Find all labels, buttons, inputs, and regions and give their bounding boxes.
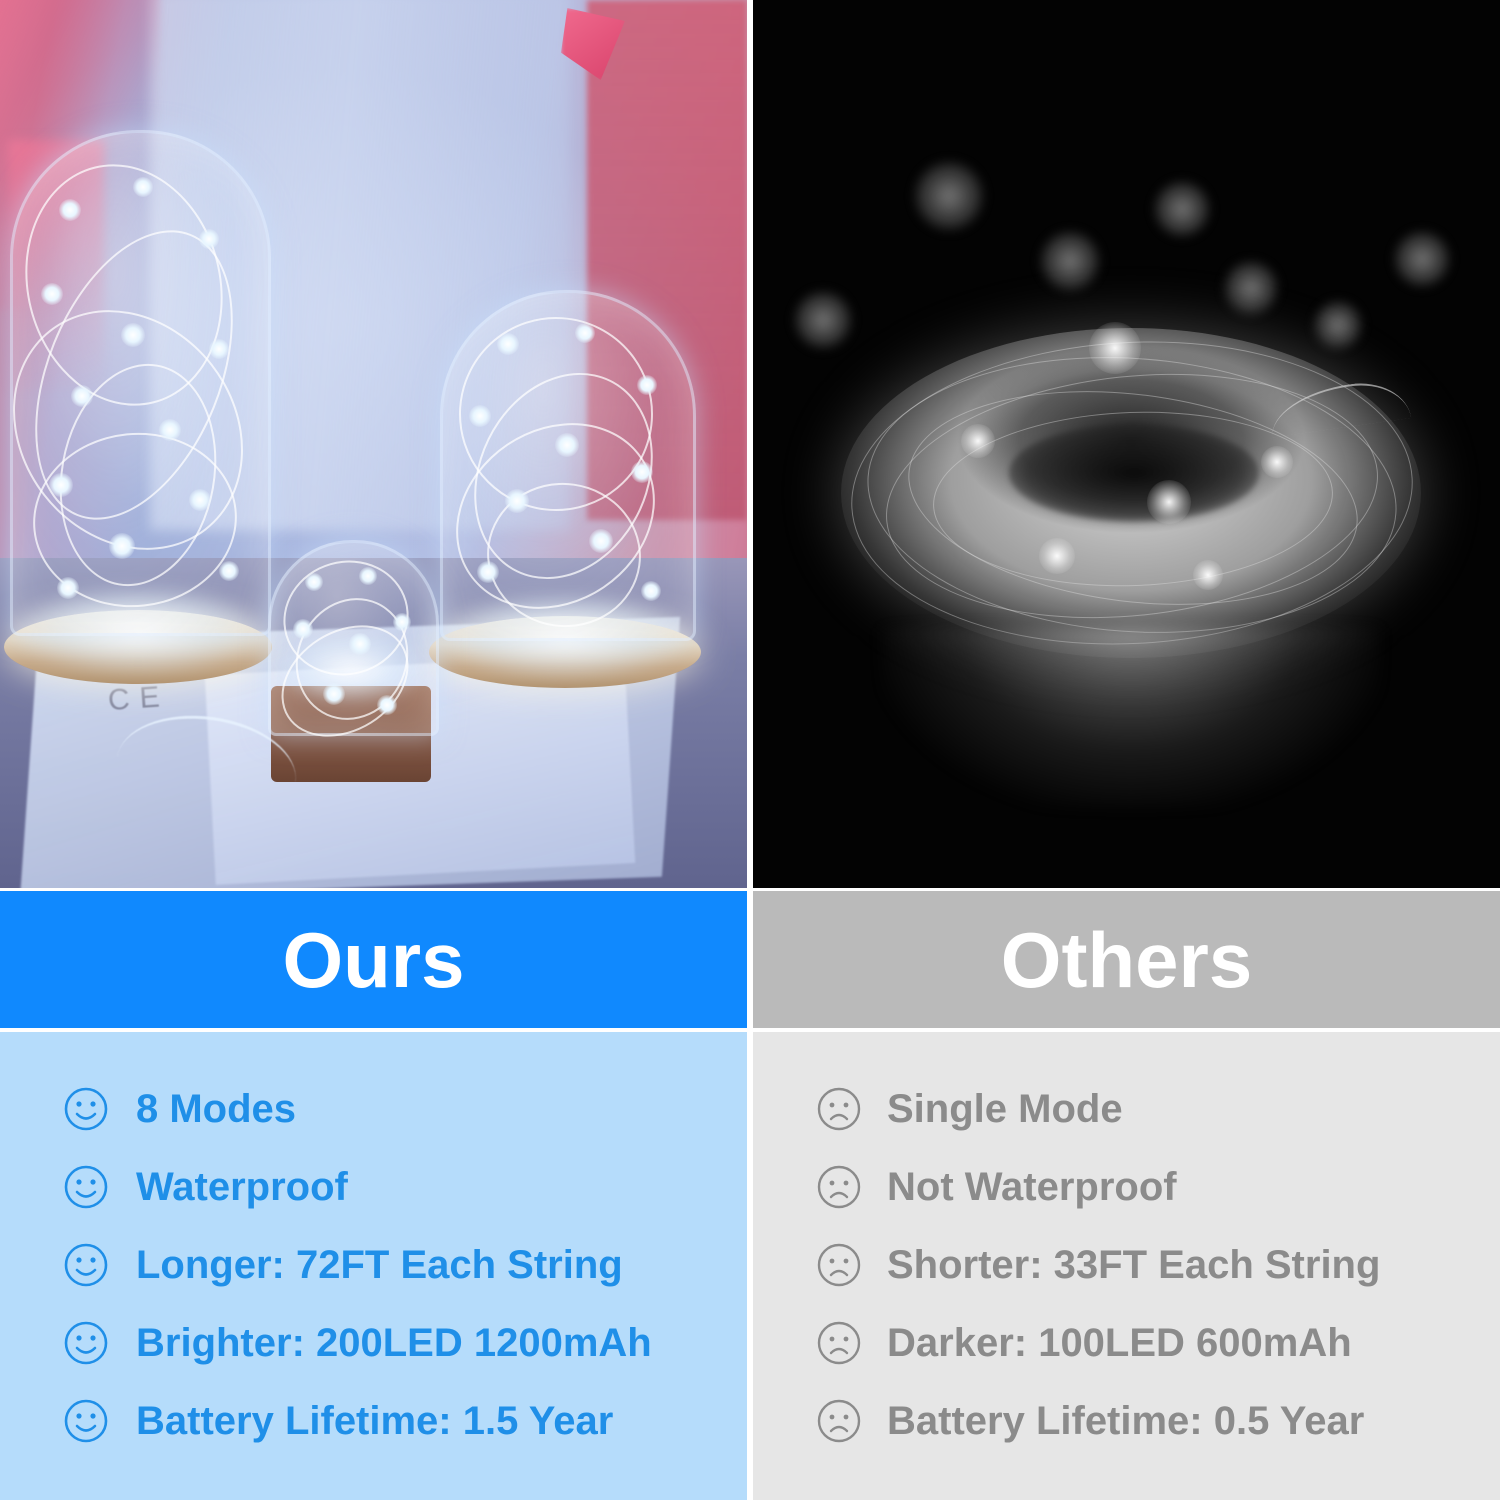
others-header-band: Others: [753, 891, 1500, 1028]
others-header-title: Others: [1001, 921, 1252, 999]
sad-face-icon: [815, 1163, 863, 1211]
smiley-face-icon: [62, 1085, 110, 1133]
list-item: Single Mode: [815, 1070, 1500, 1148]
glass-cover: [268, 540, 439, 736]
glass-dome-lamp-large: [10, 130, 265, 690]
feature-label: Shorter: 33FT Each String: [887, 1245, 1380, 1285]
list-item: Not Waterproof: [815, 1148, 1500, 1226]
feature-label: Single Mode: [887, 1089, 1123, 1129]
list-item: 8 Modes: [62, 1070, 747, 1148]
feature-label: Darker: 100LED 600mAh: [887, 1323, 1352, 1363]
smiley-face-icon: [62, 1397, 110, 1445]
glass-dome-lamp-small: [268, 540, 433, 790]
glass-dome-lamp-medium: [440, 290, 690, 690]
feature-label: Longer: 72FT Each String: [136, 1245, 623, 1285]
feature-label: 8 Modes: [136, 1089, 296, 1129]
feature-label: Battery Lifetime: 1.5 Year: [136, 1401, 613, 1441]
comparison-infographic: CE: [0, 0, 1500, 1500]
sad-face-icon: [815, 1085, 863, 1133]
features-row: 8 Modes Waterproof: [0, 1032, 1500, 1500]
ours-header-band: Ours: [0, 891, 747, 1028]
list-item: Battery Lifetime: 1.5 Year: [62, 1382, 747, 1460]
feature-label: Waterproof: [136, 1167, 348, 1207]
list-item: Battery Lifetime: 0.5 Year: [815, 1382, 1500, 1460]
glass-cover: [440, 290, 696, 641]
ours-product-photo: CE: [0, 0, 747, 888]
feature-label: Brighter: 200LED 1200mAh: [136, 1323, 652, 1363]
others-product-photo: [753, 0, 1500, 888]
fairy-light-wire-coil: [841, 328, 1421, 748]
list-item: Waterproof: [62, 1148, 747, 1226]
sad-face-icon: [815, 1241, 863, 1289]
smiley-face-icon: [62, 1241, 110, 1289]
smiley-face-icon: [62, 1163, 110, 1211]
ours-feature-list: 8 Modes Waterproof: [0, 1032, 747, 1500]
feature-label: Battery Lifetime: 0.5 Year: [887, 1401, 1364, 1441]
smiley-face-icon: [62, 1319, 110, 1367]
list-item: Shorter: 33FT Each String: [815, 1226, 1500, 1304]
feature-label: Not Waterproof: [887, 1167, 1177, 1207]
list-item: Brighter: 200LED 1200mAh: [62, 1304, 747, 1382]
sad-face-icon: [815, 1319, 863, 1367]
photo-row: CE: [0, 0, 1500, 888]
header-row: Ours Others: [0, 891, 1500, 1028]
ours-header-title: Ours: [282, 921, 464, 999]
list-item: Darker: 100LED 600mAh: [815, 1304, 1500, 1382]
others-feature-list: Single Mode Not Waterproof: [753, 1032, 1500, 1500]
coil-surface-reflection: [881, 628, 1381, 808]
list-item: Longer: 72FT Each String: [62, 1226, 747, 1304]
sad-face-icon: [815, 1397, 863, 1445]
glass-cover: [10, 130, 271, 636]
